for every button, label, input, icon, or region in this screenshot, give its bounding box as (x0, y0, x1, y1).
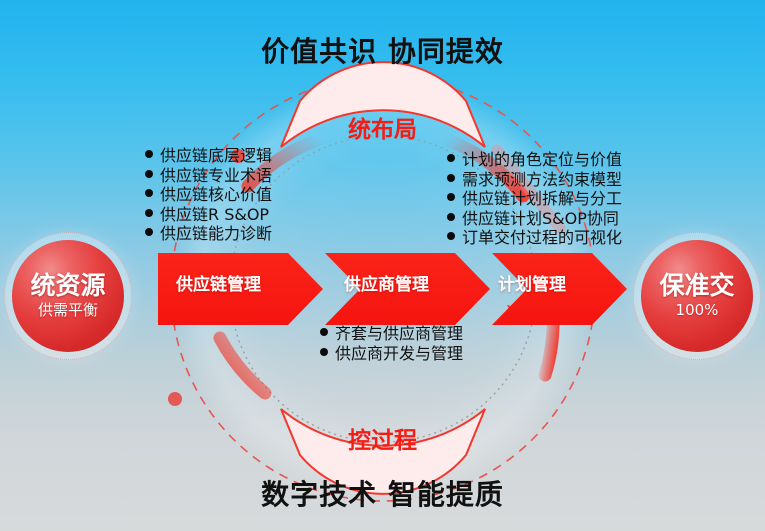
goal-orb-right-title: 保准交 (659, 272, 734, 299)
list-item-label: 供应链底层逻辑 (160, 146, 272, 166)
list-item: 需求预测方法约束模型 (447, 170, 622, 190)
cycle-direction-arrowhead (507, 305, 519, 317)
bullet-dot-icon (145, 228, 153, 236)
bullet-dot-icon (320, 348, 328, 356)
bullet-dot-icon (145, 150, 153, 158)
process-step-label-1[interactable]: 供应链管理 (176, 270, 261, 295)
list-item: 供应商开发与管理 (320, 344, 463, 364)
bullet-dot-icon (145, 170, 153, 178)
list-item-label: 计划的角色定位与价值 (462, 150, 622, 170)
goal-orb-right[interactable]: 保准交 100% (641, 240, 753, 352)
bullet-dot-icon (447, 193, 455, 201)
bullet-dot-icon (320, 328, 328, 336)
list-item-label: 供应链能力诊断 (160, 224, 272, 244)
list-item: 齐套与供应商管理 (320, 324, 463, 344)
list-item: 供应链R S&OP (145, 205, 272, 225)
list-item: 供应链专业术语 (145, 166, 272, 186)
list-item-label: 供应链计划S&OP协同 (462, 209, 619, 229)
bullet-dot-icon (447, 154, 455, 162)
cycle-arc-bottom-right (545, 318, 553, 375)
goal-orb-right-subtitle: 100% (676, 301, 719, 320)
list-item: 计划的角色定位与价值 (447, 150, 622, 170)
list-item-label: 供应商开发与管理 (335, 344, 463, 364)
list-item-label: 齐套与供应商管理 (335, 324, 463, 344)
goal-orb-left-subtitle: 供需平衡 (38, 301, 98, 320)
list-item-label: 需求预测方法约束模型 (462, 170, 622, 190)
goal-orb-left-title: 统资源 (30, 272, 105, 299)
bullet-list-left: 供应链底层逻辑 供应链专业术语 供应链核心价值 供应链R S&OP 供应链能力诊… (145, 146, 272, 244)
page-title-top: 价值共识 协同提效 (0, 30, 765, 70)
bullet-dot-icon (447, 213, 455, 221)
cycle-arc-bottom-left (220, 338, 265, 393)
list-item: 订单交付过程的可视化 (447, 228, 622, 248)
bullet-list-bottom: 齐套与供应商管理 供应商开发与管理 (320, 324, 463, 363)
goal-orb-left[interactable]: 统资源 供需平衡 (12, 240, 124, 352)
decor-dot-bottom-left (168, 392, 182, 406)
banner-bottom-label[interactable]: 控过程 (0, 421, 765, 455)
process-step-label-2[interactable]: 供应商管理 (344, 270, 429, 295)
banner-top-label[interactable]: 统布局 (0, 110, 765, 144)
list-item-label: 供应链核心价值 (160, 185, 272, 205)
bullet-dot-icon (447, 174, 455, 182)
bullet-list-right: 计划的角色定位与价值 需求预测方法约束模型 供应链计划拆解与分工 供应链计划S&… (447, 150, 622, 248)
process-step-label-3[interactable]: 计划管理 (498, 270, 566, 295)
list-item-label: 供应链计划拆解与分工 (462, 189, 622, 209)
bullet-dot-icon (145, 209, 153, 217)
bullet-dot-icon (145, 189, 153, 197)
page-title-bottom: 数字技术 智能提质 (0, 473, 765, 513)
list-item: 供应链计划拆解与分工 (447, 189, 622, 209)
list-item: 供应链计划S&OP协同 (447, 209, 622, 229)
list-item: 供应链能力诊断 (145, 224, 272, 244)
bullet-dot-icon (447, 232, 455, 240)
list-item-label: 订单交付过程的可视化 (462, 228, 622, 248)
diagram-canvas: 价值共识 协同提效 数字技术 智能提质 统布局 控过程 统资源 供需平衡 保准交… (0, 0, 765, 531)
list-item: 供应链底层逻辑 (145, 146, 272, 166)
list-item-label: 供应链专业术语 (160, 166, 272, 186)
list-item-label: 供应链R S&OP (160, 205, 269, 225)
list-item: 供应链核心价值 (145, 185, 272, 205)
